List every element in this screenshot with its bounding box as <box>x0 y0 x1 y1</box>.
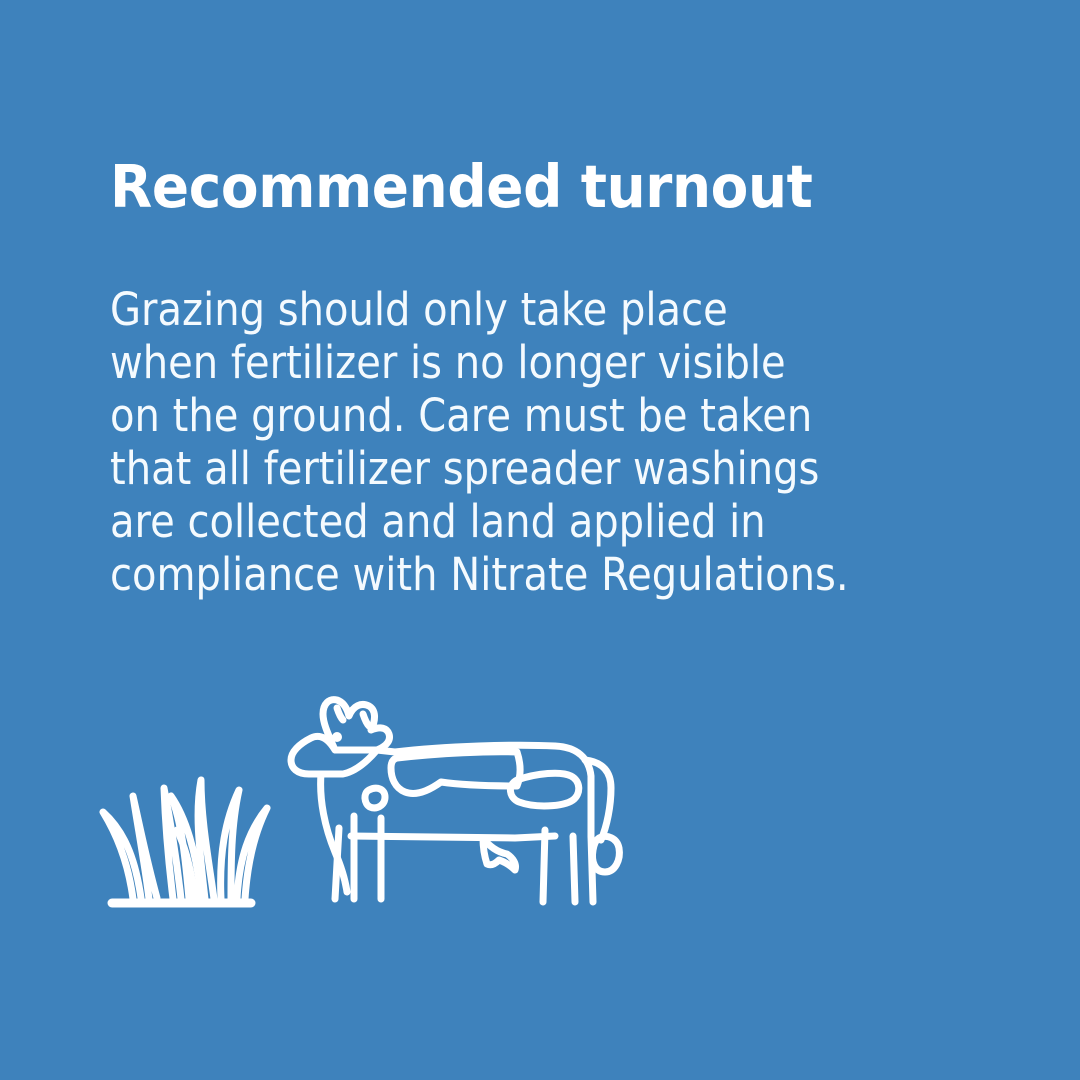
grass-blade <box>237 808 267 899</box>
body-line: that all fertilizer spreader washings <box>110 442 849 495</box>
grass-blade <box>198 780 214 899</box>
body-line: compliance with Nitrate Regulations. <box>110 548 849 601</box>
body-line: are collected and land applied in <box>110 495 849 548</box>
cow-tail-tuft <box>593 836 620 872</box>
cow-ear <box>363 714 369 726</box>
body-paragraph: Grazing should only take place when fert… <box>110 283 849 601</box>
page-title: Recommended turnout <box>110 153 813 221</box>
body-line: when fertilizer is no longer visible <box>110 336 849 389</box>
turnout-info-card: Recommended turnout Grazing should only … <box>0 0 1080 1080</box>
grass-tuft-icon <box>103 780 267 903</box>
cow-back-spot <box>391 752 520 794</box>
cow-hindquarter-spot <box>510 773 578 806</box>
cow-body-outline <box>291 700 591 836</box>
cow-hind-leg <box>573 836 575 902</box>
cow-icon <box>291 700 619 902</box>
illustration-group <box>85 640 665 930</box>
cow-eye <box>332 732 342 742</box>
body-line: Grazing should only take place <box>110 283 849 336</box>
cow-hind-leg <box>543 830 545 902</box>
cow-front-leg-back <box>335 828 339 899</box>
cow-horn <box>337 708 343 720</box>
cow-shoulder-marking <box>365 788 385 808</box>
body-line: on the ground. Care must be taken <box>110 389 849 442</box>
cow-udder <box>483 838 516 870</box>
